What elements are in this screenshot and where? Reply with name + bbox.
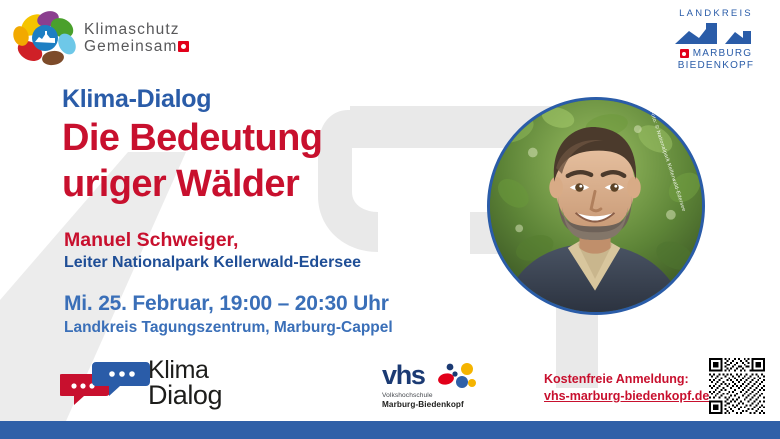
landkreis-logo: LANDKREIS MARBURG BIEDENKOPF bbox=[666, 8, 766, 72]
headline-block: Klima-Dialog Die Bedeutung uriger Wälder bbox=[62, 84, 322, 206]
vhs-subtitle-2: Marburg-Biedenkopf bbox=[382, 400, 502, 410]
klimaschutz-line2: Gemeinsam bbox=[84, 38, 177, 55]
registration-label: Kostenfreie Anmeldung: bbox=[544, 371, 709, 387]
klimaschutz-logo-text: Klimaschutz Gemeinsam bbox=[84, 21, 189, 55]
klima-dialog-wordmark: Klima Dialog bbox=[148, 358, 222, 408]
eyebrow-klima-dialog: Klima-Dialog bbox=[62, 84, 322, 114]
event-details-block: Mi. 25. Februar, 19:00 – 20:30 Uhr Landk… bbox=[64, 291, 393, 338]
title-line-2: uriger Wälder bbox=[62, 162, 322, 206]
bottom-color-bar bbox=[0, 421, 780, 439]
speaker-name: Manuel Schweiger, bbox=[64, 228, 361, 252]
vhs-subtitle-1: Volkshochschule bbox=[382, 392, 502, 400]
klimaschutz-gemeinsam-logo: Klimaschutz Gemeinsam bbox=[12, 8, 262, 70]
vhs-dots-icon bbox=[434, 362, 480, 392]
landkreis-name-row: MARBURG bbox=[666, 48, 766, 59]
title-line-1: Die Bedeutung bbox=[62, 116, 322, 160]
landkreis-name-line1: MARBURG bbox=[693, 48, 753, 59]
klima-dialog-line2: Dialog bbox=[148, 383, 222, 408]
klimaschutz-line1: Klimaschutz bbox=[84, 21, 189, 38]
registration-block: Kostenfreie Anmeldung: vhs-marburg-biede… bbox=[544, 371, 709, 405]
speaker-role: Leiter Nationalpark Kellerwald-Edersee bbox=[64, 253, 361, 273]
landkreis-name-line2: BIEDENKOPF bbox=[666, 60, 766, 71]
flower-petal-mark-icon bbox=[12, 8, 78, 70]
qr-code[interactable] bbox=[709, 358, 765, 414]
landkreis-word: LANDKREIS bbox=[666, 8, 766, 19]
vhs-logo: vhs Volkshochschule Marburg-Biedenkopf bbox=[382, 362, 502, 412]
klima-dialog-logo: Klima Dialog bbox=[60, 360, 240, 418]
speech-bubbles-icon bbox=[60, 362, 152, 406]
castle-skyline-icon bbox=[673, 22, 759, 46]
registration-link[interactable]: vhs-marburg-biedenkopf.de bbox=[544, 389, 709, 403]
event-date-time: Mi. 25. Februar, 19:00 – 20:30 Uhr bbox=[64, 291, 393, 317]
qr-code-icon[interactable] bbox=[709, 358, 765, 414]
event-poster: Klimaschutz Gemeinsam LANDKREIS MARBURG … bbox=[0, 0, 780, 439]
speaker-block: Manuel Schweiger, Leiter Nationalpark Ke… bbox=[64, 228, 361, 273]
red-square-icon bbox=[178, 41, 189, 52]
event-venue: Landkreis Tagungszentrum, Marburg-Cappel bbox=[64, 318, 393, 338]
red-square-icon bbox=[680, 49, 689, 58]
